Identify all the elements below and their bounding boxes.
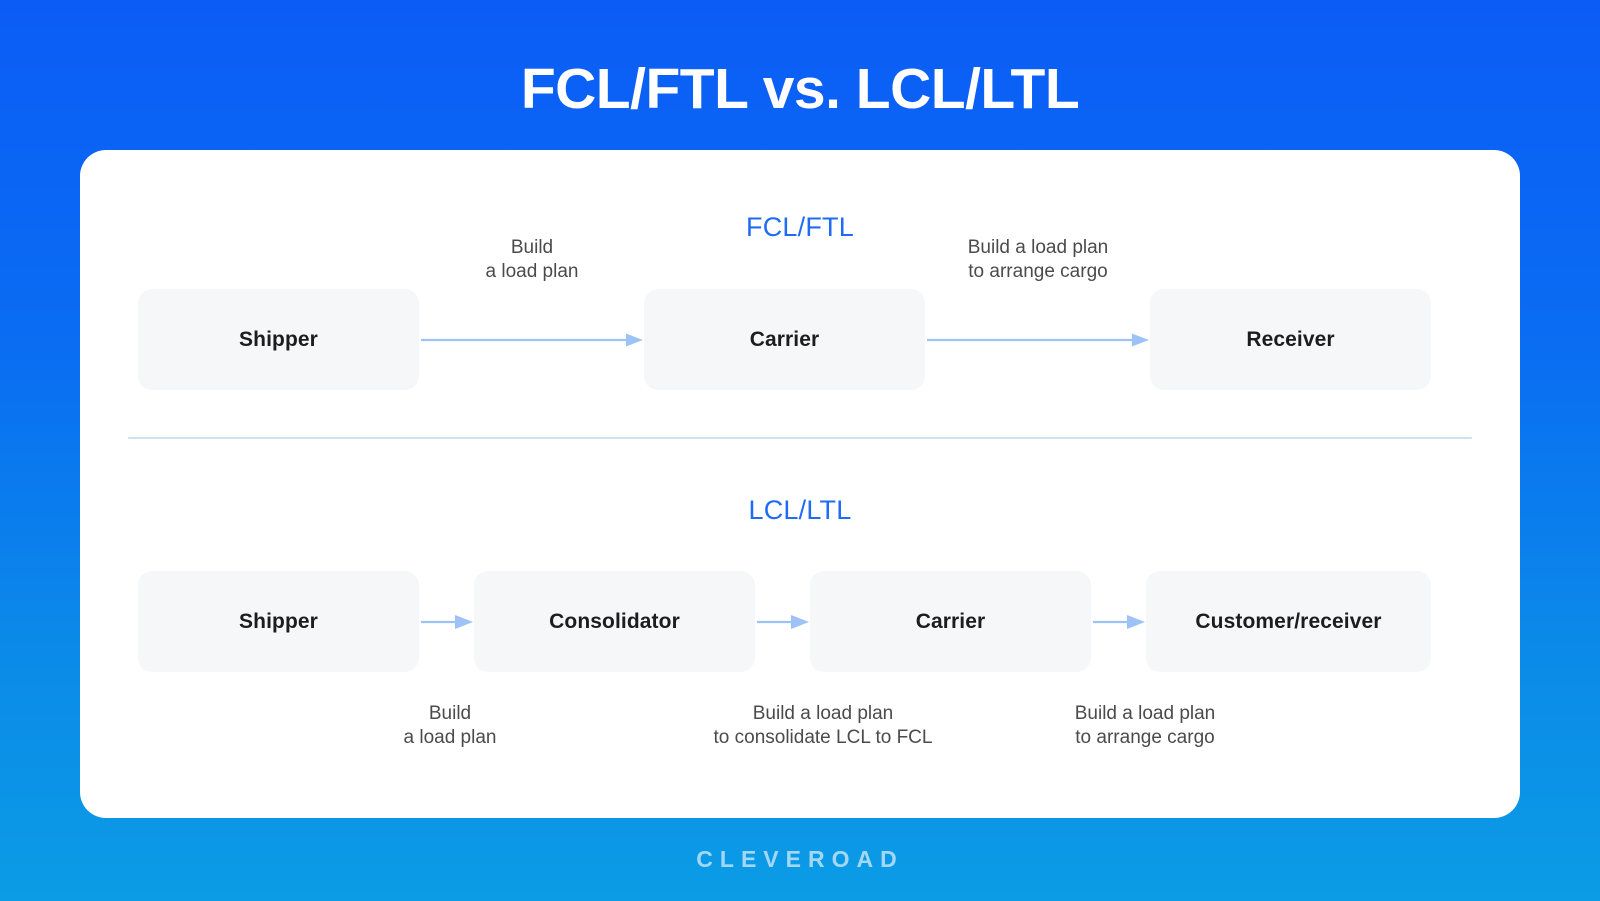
flow-node-carrier[interactable]: Carrier: [810, 571, 1091, 672]
flow-arrow-icon: [1093, 614, 1146, 630]
diagram-card: FCL/FTL Build a load plan Build a load p…: [80, 150, 1520, 818]
section-heading-lcl-ltl: LCL/LTL: [80, 495, 1520, 526]
flow-caption-lcl-0: Build a load plan: [350, 702, 550, 750]
flow-arrow-icon: [421, 332, 644, 348]
flow-node-receiver[interactable]: Receiver: [1150, 289, 1431, 390]
flow-node-shipper[interactable]: Shipper: [138, 289, 419, 390]
flow-arrow-icon: [927, 332, 1150, 348]
flow-caption-fcl-0: Build a load plan: [432, 236, 632, 284]
flow-caption-lcl-1: Build a load plan to consolidate LCL to …: [633, 702, 1013, 750]
flow-arrow-icon: [421, 614, 474, 630]
section-heading-fcl-ftl: FCL/FTL: [80, 212, 1520, 243]
flow-caption-fcl-1: Build a load plan to arrange cargo: [938, 236, 1138, 284]
page-title: FCL/FTL vs. LCL/LTL: [0, 58, 1600, 121]
brand-logo: CLEVEROAD: [0, 818, 1600, 901]
section-divider: [128, 437, 1472, 439]
flow-arrow-icon: [757, 614, 810, 630]
flow-node-carrier[interactable]: Carrier: [644, 289, 925, 390]
flow-node-consolidator[interactable]: Consolidator: [474, 571, 755, 672]
flow-caption-lcl-2: Build a load plan to arrange cargo: [1020, 702, 1270, 750]
flow-node-customer-receiver[interactable]: Customer/receiver: [1146, 571, 1431, 672]
flow-node-shipper[interactable]: Shipper: [138, 571, 419, 672]
